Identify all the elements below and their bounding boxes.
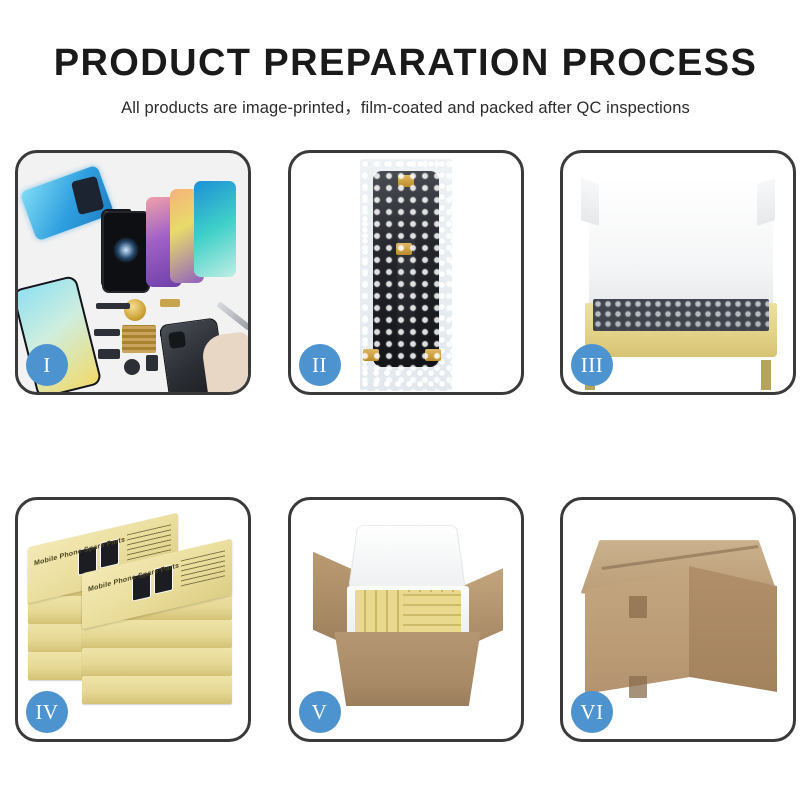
teal-phone-icon: [194, 181, 236, 277]
black-phone-display-icon: [102, 211, 150, 293]
process-row-top: I II: [15, 150, 796, 395]
step-badge-4: IV: [26, 691, 68, 733]
white-box-lid-icon: [589, 179, 773, 307]
process-row-bottom: Mobile Phone Spare Parts Mobile Phone Sp…: [15, 497, 796, 742]
gold-tape-top-icon: [398, 175, 414, 187]
carton-right-face-icon: [689, 566, 777, 692]
step-badge-2: II: [299, 344, 341, 386]
carton-tape-upper-icon: [629, 596, 647, 618]
tweezers-icon: [216, 301, 248, 330]
step-panel-1[interactable]: I: [15, 150, 251, 395]
step-badge-1: I: [26, 344, 68, 386]
process-steps-grid: I II: [15, 150, 796, 742]
page-subtitle: All products are image-printed，film-coat…: [0, 94, 811, 118]
gold-tape-middle-icon: [396, 243, 412, 255]
phone-part-strip-icon: [96, 303, 130, 309]
carton-tape-lower-icon: [629, 676, 647, 698]
step-badge-5: V: [299, 691, 341, 733]
gold-tape-bottom-right-icon: [425, 349, 441, 361]
step-badge-3: III: [571, 344, 613, 386]
stacked-box-front-2: [82, 620, 232, 648]
circuit-board-icon: [122, 325, 156, 353]
foam-box-lid-icon: [347, 525, 465, 591]
box-lid-flap-right-icon: [757, 178, 775, 226]
page-header: PRODUCT PREPARATION PROCESS All products…: [0, 0, 811, 118]
box-corner-right-icon: [761, 360, 771, 390]
step-panel-6[interactable]: VI: [560, 497, 796, 742]
bubble-wrapped-contents-icon: [593, 299, 769, 331]
gold-boxes-stacked-icon: [403, 592, 461, 634]
stacked-box-front-4: [82, 676, 232, 704]
gold-tape-bottom-left-icon: [363, 349, 379, 361]
step-panel-4[interactable]: Mobile Phone Spare Parts Mobile Phone Sp…: [15, 497, 251, 742]
phone-part-button-icon: [98, 349, 120, 359]
phone-part-camera-icon: [124, 359, 140, 375]
page-title: PRODUCT PREPARATION PROCESS: [0, 44, 811, 84]
box-spec-lines-2: [181, 550, 225, 586]
step-panel-5[interactable]: V: [288, 497, 524, 742]
phone-part-chip-icon: [146, 355, 158, 371]
step-panel-2[interactable]: II: [288, 150, 524, 395]
box-lid-flap-left-icon: [581, 178, 599, 226]
stacked-box-front-3: [82, 648, 232, 676]
step-badge-6: VI: [571, 691, 613, 733]
phone-part-connector-icon: [160, 299, 180, 307]
carton-front-panel-icon: [335, 632, 481, 706]
screen-flex-cable-icon: [397, 239, 415, 365]
step-panel-3[interactable]: III: [560, 150, 796, 395]
phone-part-flex-icon: [94, 329, 120, 336]
